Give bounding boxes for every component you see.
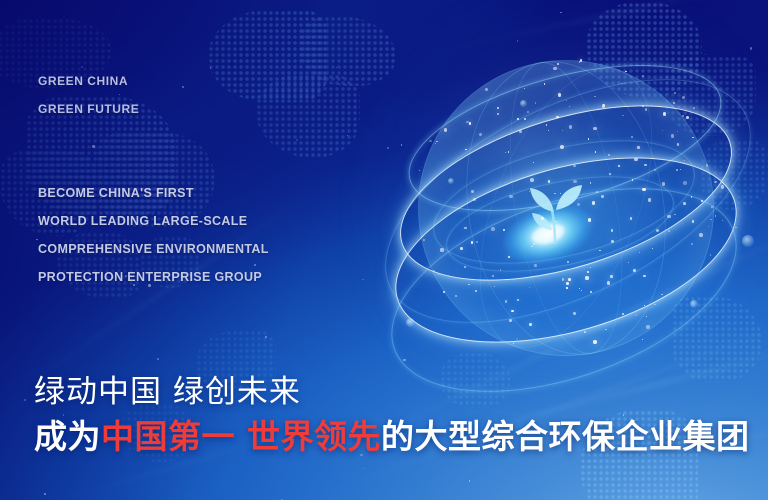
headline-suffix: 的大型综合环保企业集团 xyxy=(381,417,750,456)
particle xyxy=(706,164,708,166)
particle xyxy=(642,339,643,340)
particle xyxy=(438,274,439,275)
particle xyxy=(556,116,559,119)
particle xyxy=(546,124,547,125)
particle xyxy=(460,247,463,250)
particle xyxy=(642,75,644,77)
particle xyxy=(573,312,576,315)
particle xyxy=(296,139,298,141)
particle xyxy=(642,105,644,107)
particle xyxy=(443,291,445,293)
particle xyxy=(708,226,709,227)
particle xyxy=(580,59,582,61)
particle xyxy=(519,130,522,133)
particle xyxy=(513,343,514,344)
particle xyxy=(663,112,666,115)
particle xyxy=(436,141,437,142)
particle xyxy=(492,275,494,277)
particle xyxy=(686,116,689,119)
particle xyxy=(668,230,670,232)
particle xyxy=(444,128,448,132)
headline-line-2: 成为中国第一 世界领先的大型综合环保企业集团 xyxy=(34,410,750,458)
particle xyxy=(568,278,571,281)
particle xyxy=(595,151,596,152)
particle xyxy=(622,313,624,315)
particle xyxy=(503,229,505,231)
bokeh-orb xyxy=(690,300,698,308)
particle xyxy=(610,275,612,277)
particle xyxy=(588,218,592,222)
particle xyxy=(594,96,595,97)
particle xyxy=(363,468,364,469)
particle xyxy=(517,40,519,42)
particle xyxy=(676,169,678,171)
particle xyxy=(555,221,556,222)
particle xyxy=(569,125,573,129)
particle xyxy=(618,165,620,167)
particle xyxy=(497,113,499,115)
particle xyxy=(505,152,506,153)
particle xyxy=(579,61,580,62)
particle xyxy=(516,338,518,340)
particle xyxy=(347,135,348,136)
particle xyxy=(468,284,470,286)
particle xyxy=(440,248,443,251)
particle xyxy=(622,115,624,117)
particle xyxy=(691,196,692,197)
particle xyxy=(593,127,597,131)
particle xyxy=(464,227,467,230)
particle xyxy=(710,254,712,256)
particle xyxy=(500,269,502,271)
particle xyxy=(509,195,512,198)
particle xyxy=(557,63,559,65)
particle xyxy=(592,201,595,204)
particle xyxy=(119,94,120,95)
particle xyxy=(602,104,606,108)
particle xyxy=(558,93,562,97)
particle xyxy=(517,118,519,120)
particle xyxy=(448,275,449,276)
particle xyxy=(667,215,671,219)
particle xyxy=(567,261,569,263)
particle xyxy=(387,147,389,149)
particle xyxy=(554,193,556,195)
particle xyxy=(469,480,470,481)
particle xyxy=(562,130,563,131)
particle xyxy=(585,276,588,279)
particle xyxy=(485,88,488,91)
particle xyxy=(511,310,513,312)
particle xyxy=(466,121,469,124)
particle xyxy=(662,130,663,131)
particle xyxy=(710,219,711,220)
particle xyxy=(535,102,536,103)
particle xyxy=(682,96,686,100)
particle xyxy=(692,220,694,222)
particle xyxy=(599,250,600,251)
particle xyxy=(553,67,557,71)
particle xyxy=(577,203,580,206)
particle xyxy=(654,304,656,306)
particle xyxy=(471,241,473,243)
bokeh-orb xyxy=(520,100,527,107)
particle xyxy=(148,284,150,286)
particle xyxy=(683,202,686,205)
particle xyxy=(693,107,694,108)
particle xyxy=(479,133,482,136)
particle xyxy=(566,287,567,288)
particle xyxy=(590,182,591,183)
particle xyxy=(435,143,436,144)
particle xyxy=(590,291,592,293)
tagline-line-1: BECOME CHINA'S FIRST xyxy=(38,186,194,200)
bokeh-orb xyxy=(406,318,415,327)
particle xyxy=(562,278,565,281)
particle xyxy=(639,252,640,253)
particle xyxy=(605,329,607,331)
particle xyxy=(362,279,364,281)
particle xyxy=(573,165,576,168)
particle xyxy=(24,399,26,401)
tagline-line-3: COMPREHENSIVE ENVIRONMENTAL xyxy=(38,242,269,256)
particle xyxy=(661,294,663,296)
particle xyxy=(508,151,510,153)
particle xyxy=(581,290,582,291)
particle xyxy=(476,241,478,243)
particle xyxy=(464,266,466,268)
particle xyxy=(529,287,530,288)
particle xyxy=(598,108,599,109)
particle xyxy=(527,111,529,113)
particle xyxy=(644,305,645,306)
particle xyxy=(544,83,545,84)
particle xyxy=(182,86,184,88)
particle xyxy=(711,206,713,208)
bokeh-orb xyxy=(448,178,454,184)
particle xyxy=(494,286,495,287)
particle xyxy=(654,169,656,171)
particle xyxy=(750,47,752,49)
particle xyxy=(560,12,561,13)
particle xyxy=(646,316,647,317)
particle xyxy=(588,138,589,139)
particle xyxy=(643,275,646,278)
eyebrow-line-1: GREEN CHINA xyxy=(38,74,128,88)
particle xyxy=(601,195,604,198)
particle xyxy=(541,217,544,220)
particle xyxy=(254,264,256,266)
particle xyxy=(265,336,266,337)
particle xyxy=(44,493,46,495)
particle xyxy=(721,185,725,189)
particle xyxy=(699,233,703,237)
particle xyxy=(401,144,403,146)
particle xyxy=(611,229,614,232)
particle xyxy=(648,198,652,202)
particle xyxy=(423,239,425,241)
particle xyxy=(517,299,519,301)
particle xyxy=(637,146,639,148)
particle xyxy=(680,169,681,170)
particle xyxy=(630,217,632,219)
particle xyxy=(505,300,507,302)
particle xyxy=(662,182,665,185)
particle xyxy=(36,239,37,240)
particle xyxy=(701,200,703,202)
particle xyxy=(584,331,586,333)
particle xyxy=(735,227,737,229)
particle xyxy=(548,238,549,239)
particle xyxy=(429,140,431,142)
particle xyxy=(509,319,513,323)
particle xyxy=(455,295,457,297)
particle xyxy=(673,102,675,104)
particle xyxy=(677,131,678,132)
headline-line-1: 绿动中国 绿创未来 xyxy=(34,366,301,411)
particle xyxy=(633,269,636,272)
particle xyxy=(471,190,474,193)
particle xyxy=(419,170,420,171)
headline-prefix: 成为 xyxy=(34,417,101,456)
particle xyxy=(674,92,676,94)
particle xyxy=(403,359,405,361)
particle xyxy=(560,193,561,194)
particle xyxy=(632,179,633,180)
particle xyxy=(609,173,611,175)
particle xyxy=(631,136,633,138)
headline-accent: 中国第一 世界领先 xyxy=(101,417,381,456)
particle xyxy=(524,88,525,89)
particle xyxy=(529,191,531,193)
particle xyxy=(573,180,576,183)
particle xyxy=(705,54,706,55)
particle xyxy=(587,271,588,272)
particle xyxy=(548,130,549,131)
particle xyxy=(465,149,466,150)
particle xyxy=(671,134,674,137)
particle xyxy=(497,107,499,109)
particle xyxy=(473,198,476,201)
particle xyxy=(691,243,693,245)
particle xyxy=(548,180,550,182)
particle xyxy=(621,83,623,85)
particle xyxy=(611,240,614,243)
particle xyxy=(715,215,716,216)
particle xyxy=(646,325,650,329)
particle xyxy=(92,145,94,147)
particle xyxy=(531,246,532,247)
particle xyxy=(677,143,680,146)
particle xyxy=(635,314,637,316)
particle xyxy=(491,227,495,231)
particle xyxy=(566,100,567,101)
particle xyxy=(684,160,685,161)
tagline-line-4: PROTECTION ENTERPRISE GROUP xyxy=(38,270,262,284)
eyebrow-line-2: GREEN FUTURE xyxy=(38,102,139,116)
particle xyxy=(534,264,537,267)
particle xyxy=(634,158,638,162)
particle xyxy=(644,164,647,167)
particle xyxy=(336,67,337,68)
particle xyxy=(157,358,159,360)
particle xyxy=(607,281,610,284)
particle xyxy=(529,323,532,326)
particle xyxy=(210,67,211,68)
particle xyxy=(508,256,510,258)
particle xyxy=(683,181,687,185)
particle xyxy=(530,178,534,182)
particle xyxy=(674,214,676,216)
particle xyxy=(566,282,569,285)
particle xyxy=(569,106,570,107)
particle xyxy=(628,262,630,264)
particle xyxy=(596,191,598,193)
particle xyxy=(656,229,659,232)
particle xyxy=(590,267,591,268)
particle xyxy=(533,243,535,245)
particle xyxy=(682,115,684,117)
particle xyxy=(81,66,83,68)
particle xyxy=(645,108,647,110)
tagline-line-2: WORLD LEADING LARGE-SCALE xyxy=(38,214,247,228)
particle xyxy=(433,270,435,272)
particle xyxy=(652,248,653,249)
particle xyxy=(642,188,645,191)
particle xyxy=(533,162,534,163)
particle xyxy=(593,340,597,344)
particle xyxy=(475,290,477,292)
particle xyxy=(722,220,723,221)
particle xyxy=(560,145,564,149)
particle xyxy=(625,71,626,72)
particle xyxy=(579,288,580,289)
particle xyxy=(562,227,563,228)
bokeh-orb xyxy=(742,235,754,247)
particle xyxy=(608,154,610,156)
particle xyxy=(714,181,717,184)
hero-banner: GREEN CHINA GREEN FUTURE BECOME CHINA'S … xyxy=(0,0,768,500)
particle xyxy=(469,122,471,124)
particle xyxy=(692,137,693,138)
particle xyxy=(524,118,526,120)
